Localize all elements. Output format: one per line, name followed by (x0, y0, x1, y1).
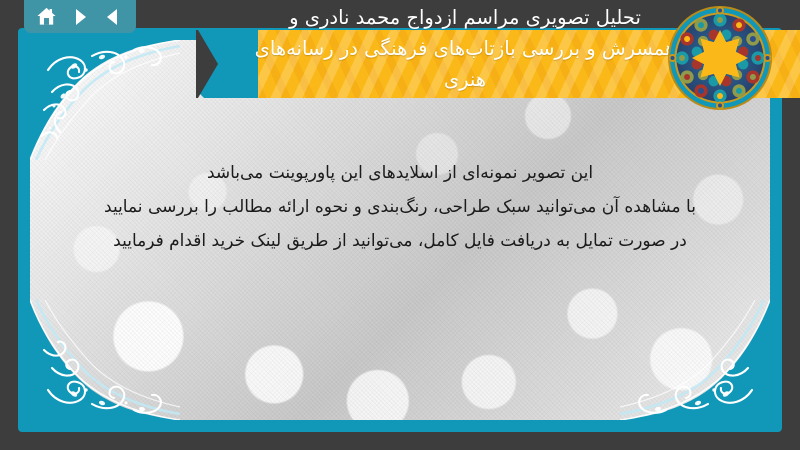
body-line-1: این تصویر نمونه‌ای از اسلایدهای این پاور… (58, 156, 742, 190)
next-arrow-icon (70, 7, 90, 27)
banner-ribbon-tail (196, 30, 260, 98)
next-button[interactable] (67, 4, 93, 30)
home-button[interactable] (34, 4, 60, 30)
body-line-2: با مشاهده آن می‌توانید سبک طراحی، رنگ‌بن… (58, 190, 742, 224)
slide-body-text: این تصویر نمونه‌ای از اسلایدهای این پاور… (58, 156, 742, 258)
prev-button[interactable] (100, 4, 126, 30)
navigation-toolbar (24, 0, 136, 33)
persian-medallion-icon (666, 4, 774, 112)
slide-viewer: این تصویر نمونه‌ای از اسلایدهای این پاور… (0, 0, 800, 450)
home-icon (36, 6, 57, 27)
body-line-3: در صورت تمایل به دریافت فایل کامل، می‌تو… (58, 224, 742, 258)
prev-arrow-icon (103, 7, 123, 27)
